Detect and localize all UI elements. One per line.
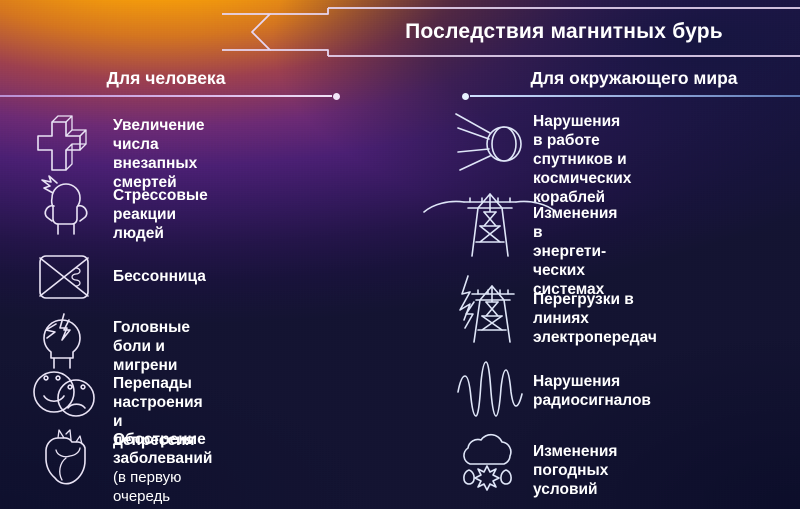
column-header-environment: Для окружающего мира [468,68,800,89]
headache-head-icon [32,308,94,375]
list-item-text: Изменения погодных условий [533,442,617,499]
list-item-subtext: (в первую очередь сердечно- сосудистой с… [113,468,212,509]
mood-faces-icon [32,368,98,425]
rule-line [0,95,332,97]
heart-icon [32,428,98,495]
list-item-text: Перегрузки в линиях электропередач [533,290,657,347]
list-item-text: Изменения в энергети- ческих системах [533,204,617,299]
list-item-text: Обострение заболеваний [113,431,212,467]
rule-line [470,95,800,97]
rule-dot [333,93,340,100]
stressed-head-icon [32,176,96,243]
title-ribbon: Последствия магнитных бурь [222,8,800,56]
column-header-human: Для человека [0,68,332,89]
infographic-canvas: Последствия магнитных бурь Для человека … [0,0,800,509]
cloud-weather-icon [456,430,526,495]
column-rule-human [0,95,340,97]
column-rule-environment [462,95,800,97]
list-item-text: Бессонница [113,267,206,286]
radio-wave-icon [456,362,526,423]
crossed-pillow-icon [32,252,96,311]
list-item-text: Головные боли и мигрени [113,318,190,375]
list-item-text: Увеличение числа внезапных смертей [113,116,205,192]
page-title: Последствия магнитных бурь [328,8,800,56]
list-item-text: Нарушения в работе спутников и космическ… [533,112,631,207]
cross-grave-icon [32,110,92,177]
power-tower-icon [456,186,526,263]
list-item-text-group: Обострение заболеваний (в первую очередь… [113,430,212,509]
list-item-text: Нарушения радиосигналов [533,372,651,410]
list-item-text: Стрессовые реакции людей [113,186,208,243]
power-tower-spark-icon [456,272,526,349]
rule-dot [462,93,469,100]
satellite-planet-icon [456,112,526,179]
